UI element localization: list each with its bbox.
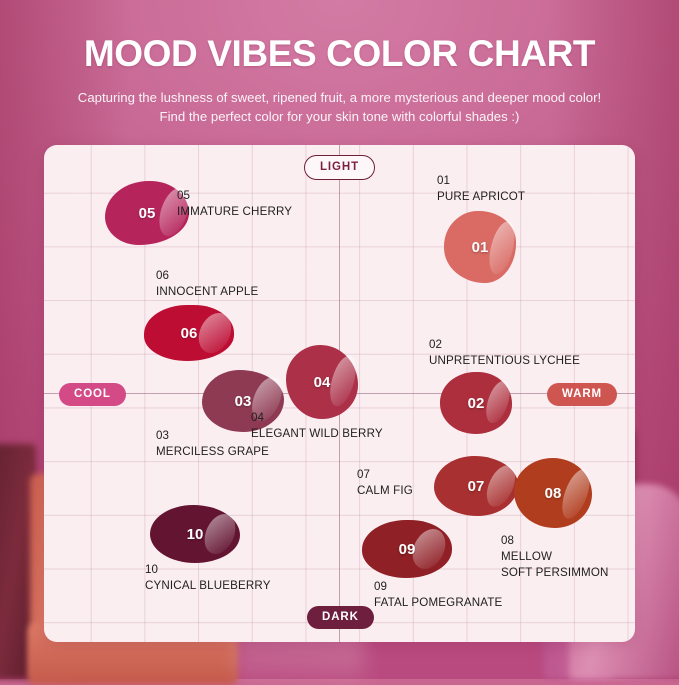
caption-name: UNPRETENTIOUS LYCHEE: [429, 353, 580, 369]
axis-label-warm: WARM: [547, 383, 617, 406]
caption-name-1: MELLOW: [501, 549, 609, 565]
caption-name: FATAL POMEGRANATE: [374, 595, 502, 611]
swatch-caption-05: 05 IMMATURE CHERRY: [177, 188, 292, 220]
swatch-blob-07[interactable]: 07: [434, 456, 518, 516]
caption-code: 10: [145, 562, 271, 578]
swatch-caption-06: 06 INNOCENT APPLE: [156, 268, 258, 300]
swatch-code-01: 01: [472, 239, 489, 256]
caption-name: MERCILESS GRAPE: [156, 444, 269, 460]
caption-code: 05: [177, 188, 292, 204]
swatch-code-02: 02: [468, 395, 485, 412]
caption-name-2: SOFT PERSIMMON: [501, 565, 609, 581]
caption-name: ELEGANT WILD BERRY: [251, 426, 383, 442]
swatch-blob-04[interactable]: 04: [286, 345, 358, 419]
caption-name: IMMATURE CHERRY: [177, 204, 292, 220]
swatch-caption-04: 04 ELEGANT WILD BERRY: [251, 410, 383, 442]
swatch-blob-08[interactable]: 08: [514, 458, 592, 528]
swatch-code-08: 08: [545, 485, 562, 502]
caption-code: 04: [251, 410, 383, 426]
caption-code: 09: [374, 579, 502, 595]
swatch-code-10: 10: [187, 526, 204, 543]
swatch-blob-09[interactable]: 09: [362, 520, 452, 578]
swatch-code-09: 09: [399, 541, 416, 558]
swatch-code-06: 06: [181, 325, 198, 342]
page-subtitle: Capturing the lushness of sweet, ripened…: [0, 88, 679, 127]
swatch-caption-01: 01 PURE APRICOT: [437, 173, 525, 205]
swatch-code-04: 04: [314, 374, 331, 391]
caption-name: INNOCENT APPLE: [156, 284, 258, 300]
swatch-blob-02[interactable]: 02: [440, 372, 512, 434]
caption-code: 01: [437, 173, 525, 189]
caption-name: PURE APRICOT: [437, 189, 525, 205]
swatch-caption-08: 08 MELLOW SOFT PERSIMMON: [501, 533, 609, 581]
swatch-blob-01[interactable]: 01: [444, 211, 516, 283]
swatch-code-03: 03: [235, 393, 252, 410]
caption-name: CALM FIG: [357, 483, 413, 499]
subtitle-line-2: Find the perfect color for your skin ton…: [160, 109, 520, 124]
swatch-code-07: 07: [468, 478, 485, 495]
page-title: MOOD VIBES COLOR CHART: [0, 33, 679, 75]
caption-code: 07: [357, 467, 413, 483]
caption-code: 02: [429, 337, 580, 353]
axis-label-cool: COOL: [59, 383, 126, 406]
caption-code: 08: [501, 533, 609, 549]
color-chart-card: LIGHT DARK COOL WARM 05 05 IMMATURE CHER…: [44, 145, 635, 642]
caption-code: 06: [156, 268, 258, 284]
swatch-caption-02: 02 UNPRETENTIOUS LYCHEE: [429, 337, 580, 369]
swatch-caption-09: 09 FATAL POMEGRANATE: [374, 579, 502, 611]
axis-label-dark: DARK: [307, 606, 374, 629]
swatch-blob-06[interactable]: 06: [144, 305, 234, 361]
swatch-blob-10[interactable]: 10: [150, 505, 240, 563]
subtitle-line-1: Capturing the lushness of sweet, ripened…: [78, 90, 601, 105]
caption-name: CYNICAL BLUEBERRY: [145, 578, 271, 594]
swatch-caption-10: 10 CYNICAL BLUEBERRY: [145, 562, 271, 594]
axis-label-light: LIGHT: [304, 155, 375, 180]
swatch-code-05: 05: [139, 205, 156, 222]
chart-header: MOOD VIBES COLOR CHART Capturing the lus…: [0, 0, 679, 127]
swatch-caption-07: 07 CALM FIG: [357, 467, 413, 499]
